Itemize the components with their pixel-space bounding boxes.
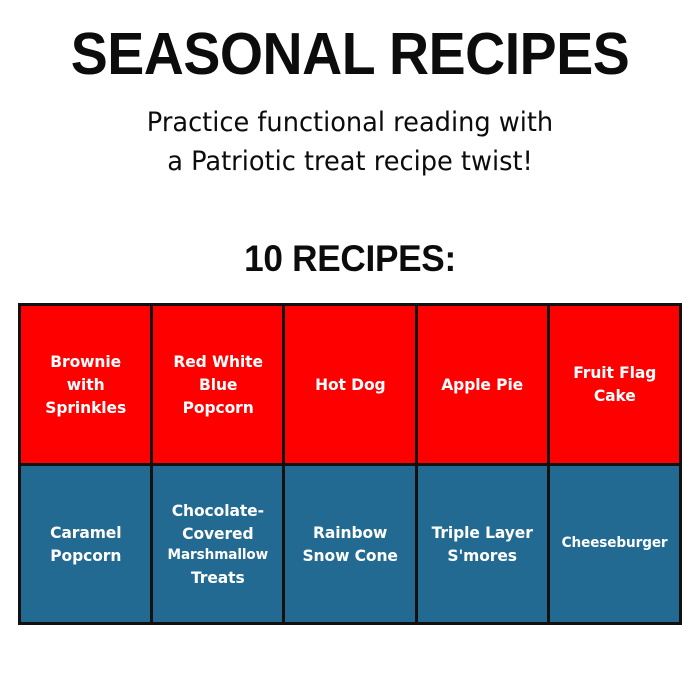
subtitle-line-2: a Patriotic treat recipe twist!	[18, 142, 683, 181]
recipe-grid: Brownie with Sprinkles Red White Blue Po…	[18, 303, 682, 625]
recipe-label-group: Chocolate- Covered Marshmallow Treats	[166, 499, 270, 589]
recipe-cell-brownie-with-sprinkles[interactable]: Brownie with Sprinkles	[21, 306, 150, 463]
recipe-cell-rainbow-snow-cone[interactable]: Rainbow Snow Cone	[285, 466, 414, 623]
recipe-cell-hot-dog[interactable]: Hot Dog	[285, 306, 414, 463]
subtitle-line-1: Practice functional reading with	[18, 103, 683, 142]
recipe-cell-fruit-flag-cake[interactable]: Fruit Flag Cake	[550, 306, 679, 463]
recipe-cell-cheeseburger[interactable]: Cheeseburger	[550, 466, 679, 623]
recipe-label: Rainbow Snow Cone	[302, 521, 397, 567]
recipe-cell-red-white-blue-popcorn[interactable]: Red White Blue Popcorn	[153, 306, 282, 463]
recipe-cell-triple-layer-smores[interactable]: Triple Layer S'mores	[418, 466, 547, 623]
recipe-label: Apple Pie	[441, 373, 523, 396]
recipe-cell-apple-pie[interactable]: Apple Pie	[418, 306, 547, 463]
subtitle: Practice functional reading with a Patri…	[18, 103, 683, 181]
recipe-label: Cheeseburger	[561, 533, 667, 554]
recipe-count-heading: 10 RECIPES:	[18, 238, 683, 280]
recipe-label: Caramel Popcorn	[50, 521, 121, 567]
page-title: SEASONAL RECIPES	[21, 22, 679, 86]
recipe-cell-chocolate-covered-marshmallow-treats[interactable]: Chocolate- Covered Marshmallow Treats	[153, 466, 282, 623]
recipe-cell-caramel-popcorn[interactable]: Caramel Popcorn	[21, 466, 150, 623]
poster-canvas: SEASONAL RECIPES Practice functional rea…	[0, 0, 700, 700]
recipe-label: Triple Layer S'mores	[432, 521, 533, 567]
recipe-label: Brownie with Sprinkles	[45, 350, 126, 419]
recipe-label: Chocolate- Covered	[168, 499, 269, 545]
recipe-label-last: Treats	[168, 566, 269, 589]
recipe-label: Red White Blue Popcorn	[173, 350, 263, 419]
recipe-label: Hot Dog	[315, 373, 385, 396]
recipe-label: Fruit Flag Cake	[573, 361, 656, 407]
recipe-label-mid: Marshmallow	[168, 545, 269, 566]
